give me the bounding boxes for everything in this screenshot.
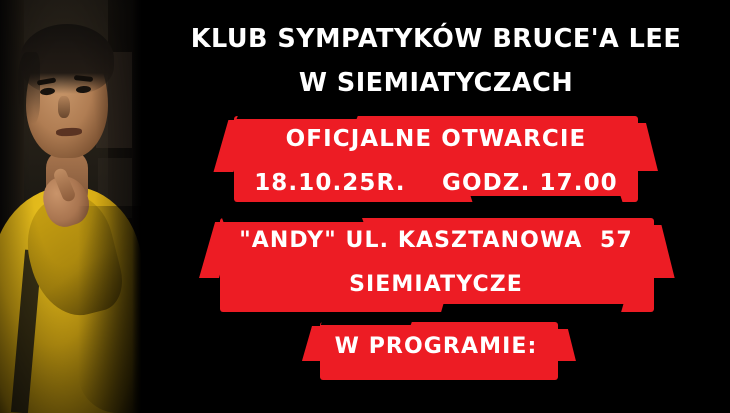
red-band-opening-nick-top (237, 112, 360, 119)
page-title-line-1: KLUB SYMPATYKÓW BRUCE'A LEE (142, 26, 730, 54)
red-band-program-nick-top (321, 318, 414, 325)
photo-vignette (0, 0, 142, 413)
opening-headline: OFICJALNE OTWARCIE (142, 126, 730, 152)
photo-right-fade (132, 0, 142, 413)
venue-city: SIEMIATYCZE (142, 272, 730, 297)
venue-address: "ANDY" UL. KASZTANOWA 57 (142, 228, 730, 253)
opening-datetime: 18.10.25R. GODZ. 17.00 (142, 170, 730, 196)
poster: KLUB SYMPATYKÓW BRUCE'A LEE W SIEMIATYCZ… (0, 0, 730, 413)
poster-content: KLUB SYMPATYKÓW BRUCE'A LEE W SIEMIATYCZ… (142, 0, 730, 413)
red-band-address-nick-bottom (441, 304, 624, 314)
red-band-address-nick-top (221, 214, 364, 222)
bruce-lee-photo (0, 0, 142, 413)
red-band-opening-nick-bottom (471, 196, 624, 205)
program-heading: W PROGRAMIE: (142, 334, 730, 359)
page-title-line-2: W SIEMIATYCZACH (142, 70, 730, 98)
